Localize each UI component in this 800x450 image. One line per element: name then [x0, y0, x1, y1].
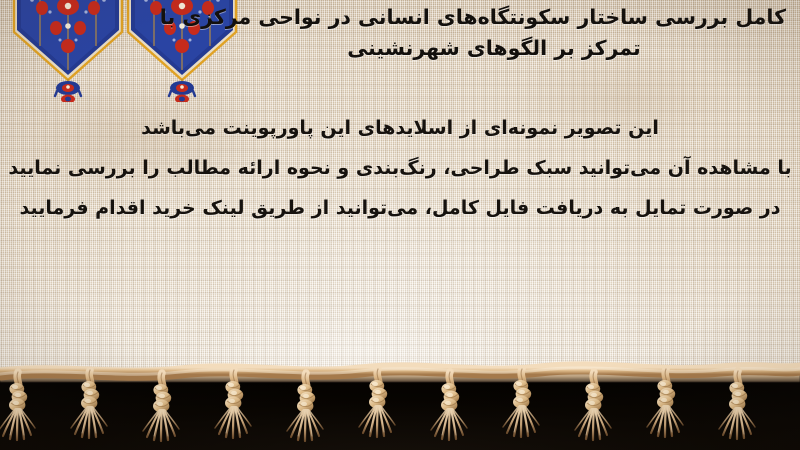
slide-body: این تصویر نمونه‌ای از اسلایدهای این پاور… [0, 108, 800, 228]
slide-title-line-1: کامل بررسی ساختار سکونتگاه‌های انسانی در… [202, 2, 786, 33]
body-line-2: با مشاهده آن می‌توانید سبک طراحی، رنگ‌بن… [0, 148, 800, 188]
slide-title: کامل بررسی ساختار سکونتگاه‌های انسانی در… [202, 2, 786, 64]
presentation-slide: کامل بررسی ساختار سکونتگاه‌های انسانی در… [0, 0, 800, 450]
body-line-3: در صورت تمایل به دریافت فایل کامل، می‌تو… [0, 188, 800, 228]
slide-title-line-2: تمرکز بر الگوهای شهرنشینی [202, 33, 786, 64]
carpet-knotted-fringe [0, 354, 800, 450]
carpet-fringe-zone [0, 354, 800, 450]
body-line-1: این تصویر نمونه‌ای از اسلایدهای این پاور… [0, 108, 800, 148]
